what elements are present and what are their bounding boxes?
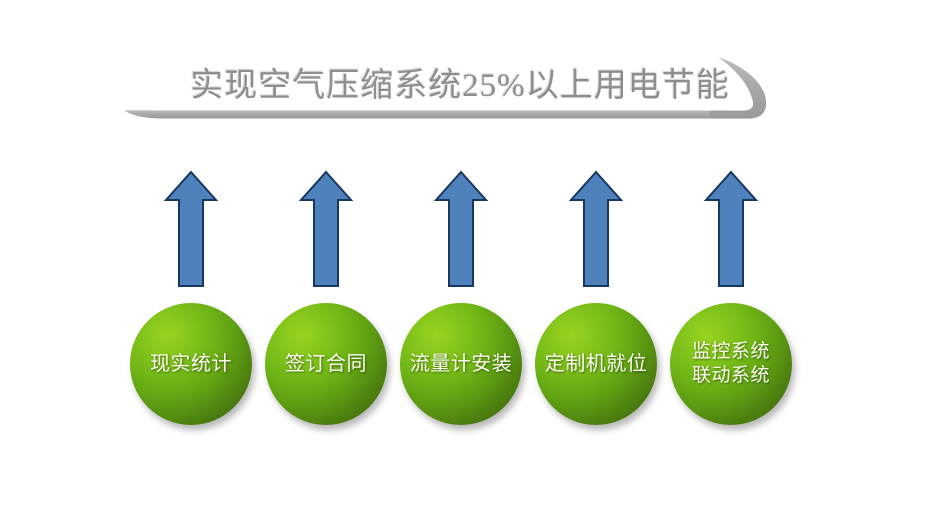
process-node-2[interactable]: 签订合同 xyxy=(265,303,387,425)
title-banner: 实现空气压缩系统25%以上用电节能 xyxy=(120,30,820,140)
arrow-up-3 xyxy=(433,170,489,288)
process-node-1[interactable]: 现实统计 xyxy=(130,303,252,425)
process-node-4[interactable]: 定制机就位 xyxy=(535,303,657,425)
arrow-up-1 xyxy=(163,170,219,288)
arrow-up-4 xyxy=(568,170,624,288)
process-node-label: 监控系统 联动系统 xyxy=(688,340,774,388)
arrow-up-2 xyxy=(298,170,354,288)
process-node-label: 签订合同 xyxy=(281,352,371,377)
arrow-up-5 xyxy=(703,170,759,288)
process-node-label: 现实统计 xyxy=(146,352,236,377)
slide-canvas: 实现空气压缩系统25%以上用电节能 现实统计 签订合同 流量计安装 定制机就位 … xyxy=(0,0,945,529)
process-node-label: 流量计安装 xyxy=(406,352,517,377)
process-node-5[interactable]: 监控系统 联动系统 xyxy=(670,303,792,425)
process-node-3[interactable]: 流量计安装 xyxy=(400,303,522,425)
process-node-label: 定制机就位 xyxy=(541,352,652,377)
page-title: 实现空气压缩系统25%以上用电节能 xyxy=(150,66,770,106)
